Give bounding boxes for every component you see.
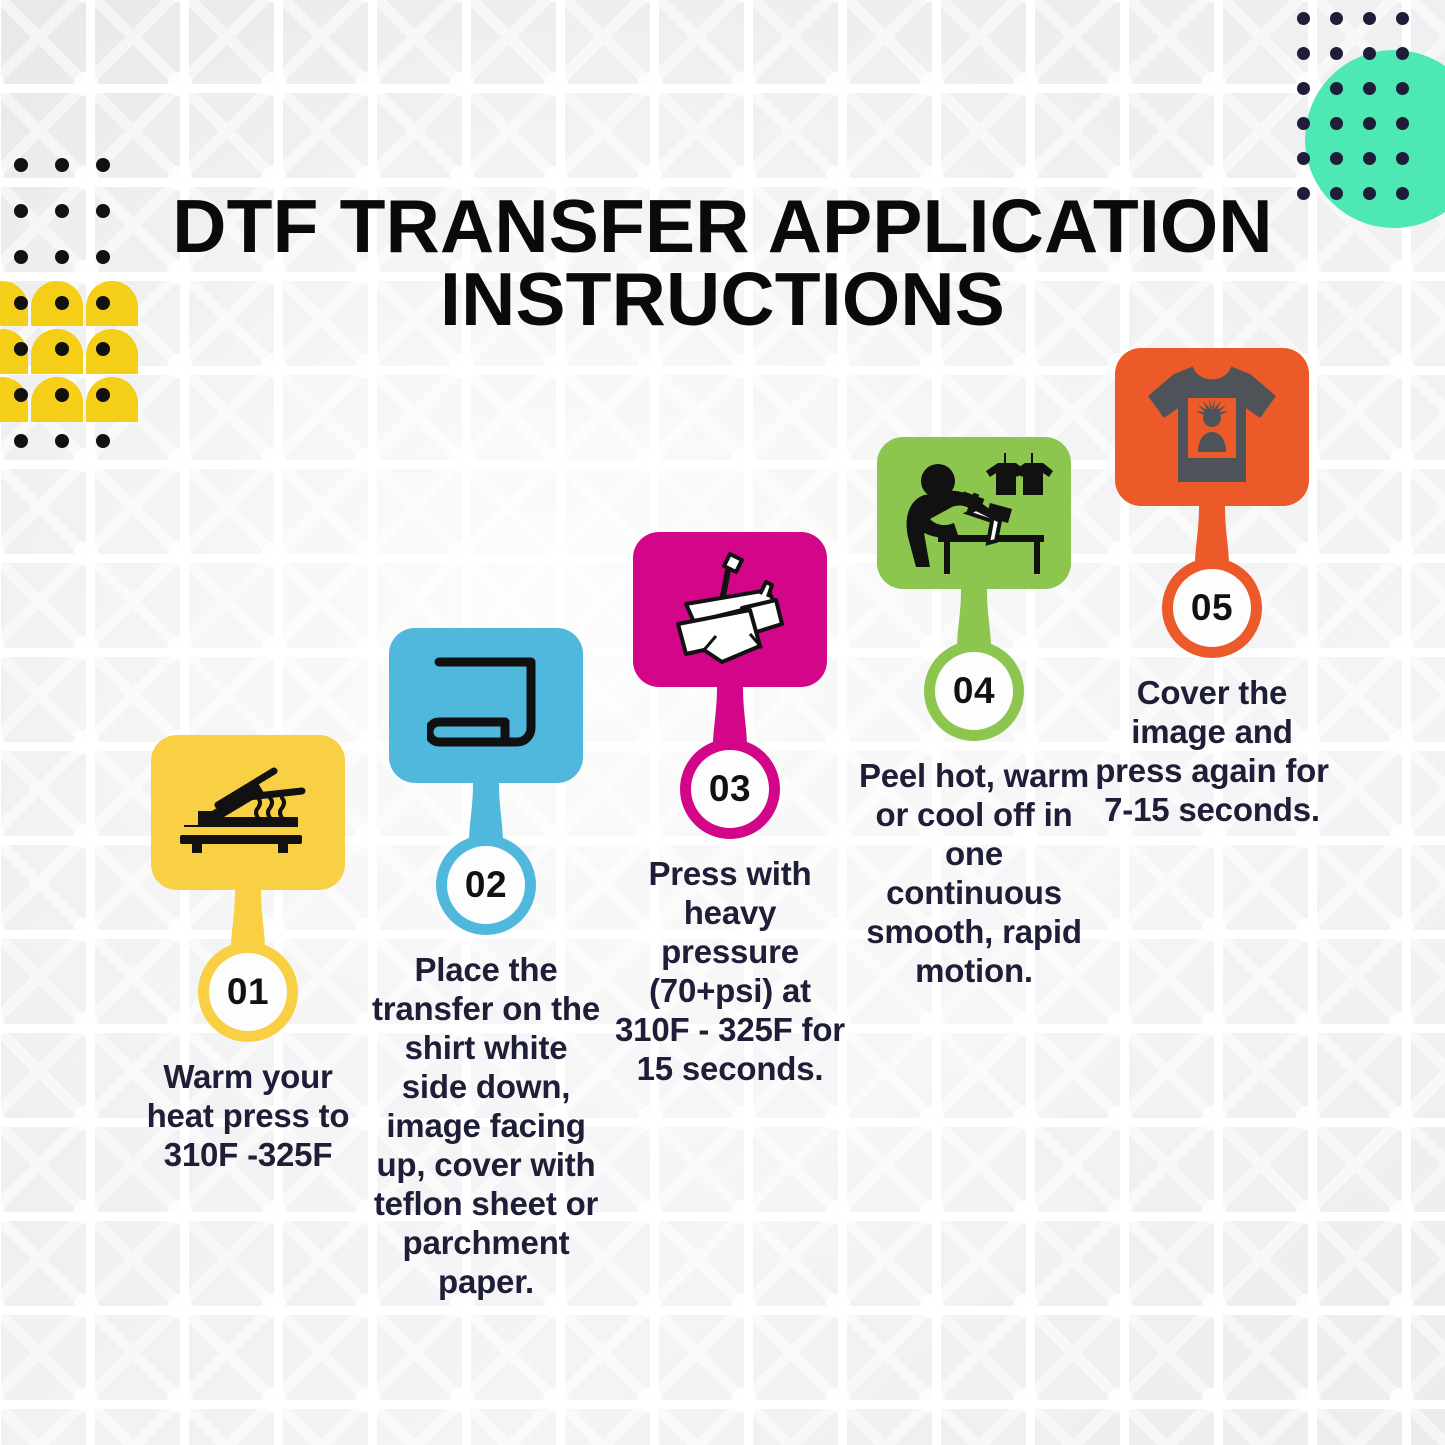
step-03-card[interactable]	[633, 532, 827, 687]
steps-container: 01 Warm your heat press to 310F -325F	[0, 0, 1445, 1445]
step-01: 01 Warm your heat press to 310F -325F	[130, 735, 366, 1175]
step-02-card[interactable]	[389, 628, 583, 783]
step-05-number: 05	[1191, 587, 1233, 629]
step-05: 05 Cover the image and press again for 7…	[1094, 348, 1330, 830]
step-04: 04 Peel hot, warm or cool off in one con…	[856, 437, 1092, 991]
step-01-card[interactable]	[151, 735, 345, 890]
step-02-description: Place the transfer on the shirt white si…	[368, 951, 604, 1301]
step-05-card[interactable]	[1115, 348, 1309, 506]
step-04-number-badge: 04	[924, 641, 1024, 741]
step-01-number: 01	[227, 971, 269, 1013]
step-01-number-badge: 01	[198, 942, 298, 1042]
step-04-number: 04	[953, 670, 995, 712]
transfer-sheet-icon	[427, 654, 545, 758]
printed-tshirt-icon	[1144, 360, 1280, 494]
step-03: 03 Press with heavy pressure (70+psi) at…	[612, 532, 848, 1089]
step-04-card[interactable]	[877, 437, 1071, 589]
step-01-description: Warm your heat press to 310F -325F	[130, 1058, 366, 1175]
step-02: 02 Place the transfer on the shirt white…	[368, 628, 604, 1301]
step-05-number-badge: 05	[1162, 558, 1262, 658]
step-04-description: Peel hot, warm or cool off in one contin…	[856, 757, 1092, 991]
heat-press-pressing-icon	[664, 550, 796, 670]
step-03-number-badge: 03	[680, 739, 780, 839]
step-02-number: 02	[465, 864, 507, 906]
step-05-description: Cover the image and press again for 7-15…	[1094, 674, 1330, 830]
step-03-description: Press with heavy pressure (70+psi) at 31…	[612, 855, 848, 1089]
step-02-number-badge: 02	[436, 835, 536, 935]
heat-press-open-icon	[178, 763, 318, 863]
peeling-transfer-icon	[894, 451, 1054, 575]
step-03-number: 03	[709, 768, 751, 810]
